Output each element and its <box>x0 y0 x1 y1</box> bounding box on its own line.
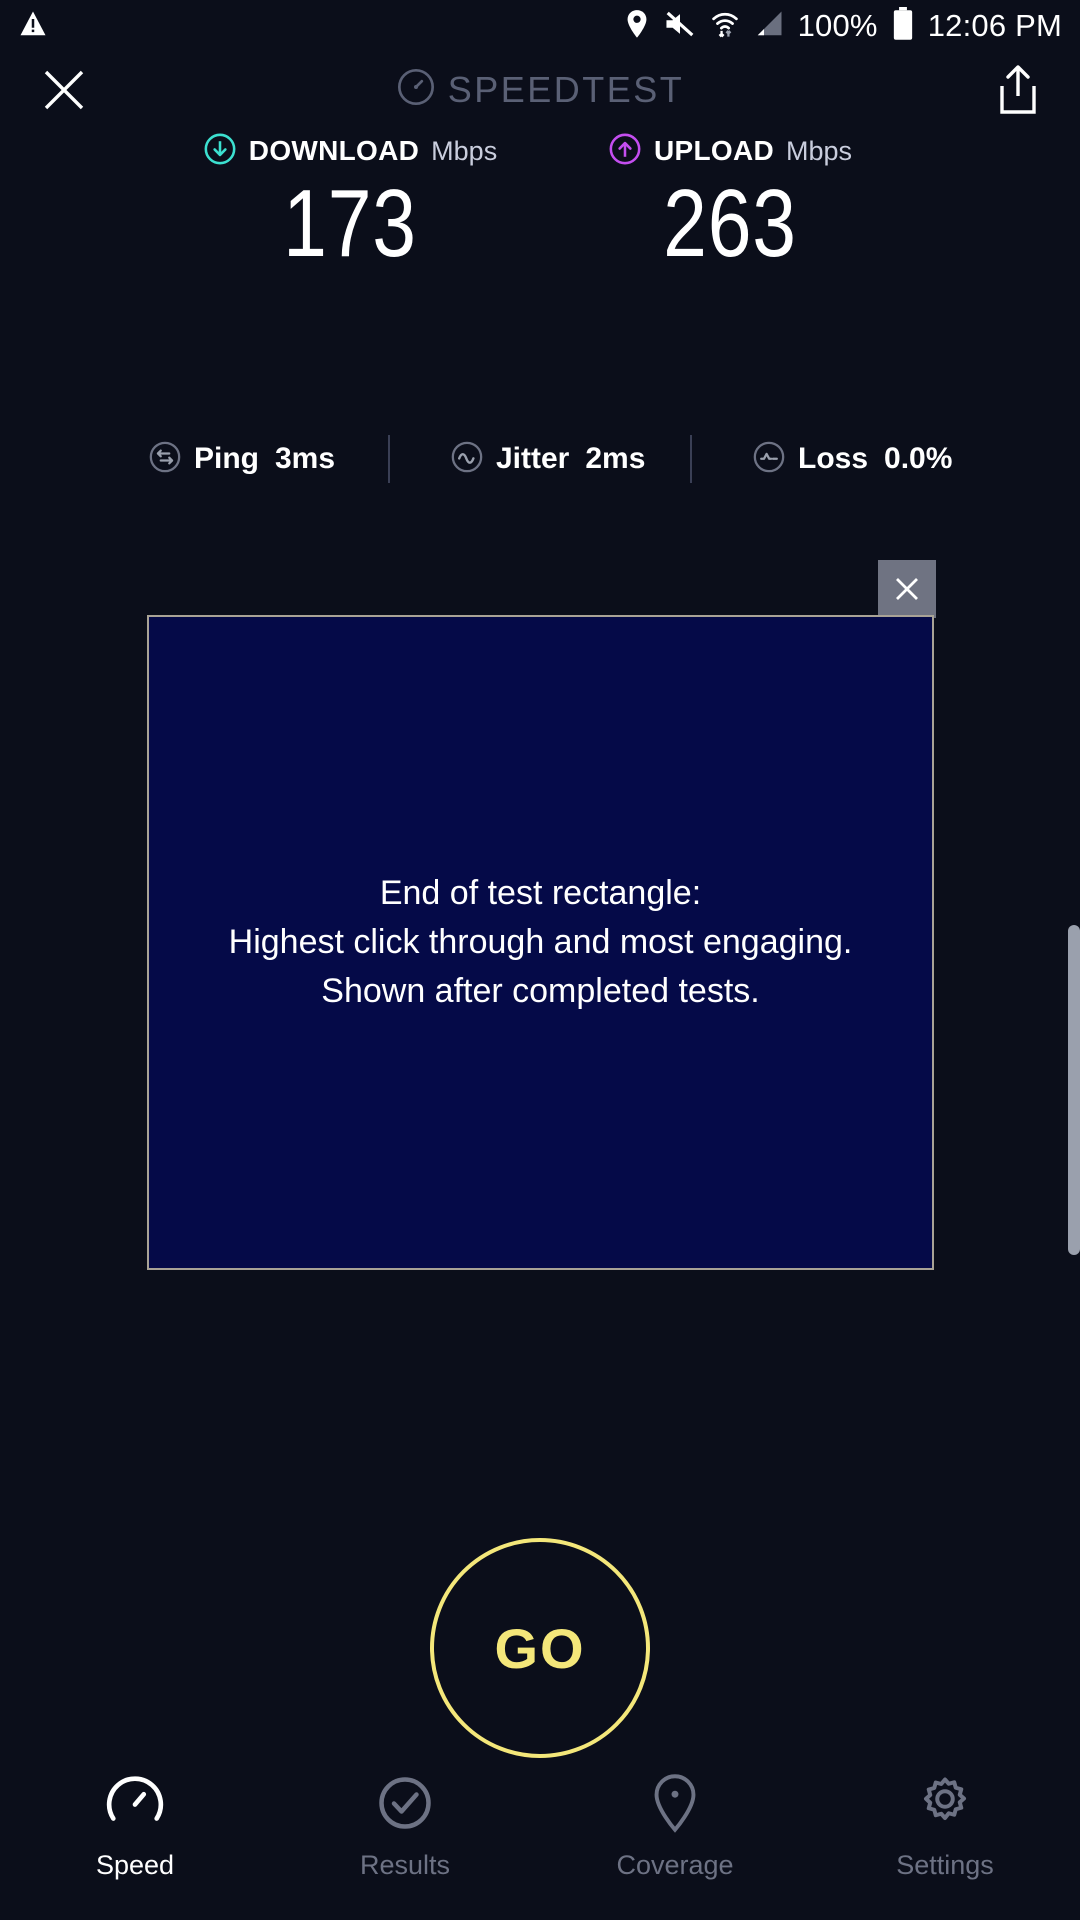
brand-title: SPEEDTEST <box>448 69 685 111</box>
loss-stat: Loss 0.0% <box>692 440 992 479</box>
stats-row: Ping 3ms Jitter 2ms Loss 0.0% <box>0 435 1080 483</box>
jitter-icon <box>450 440 484 479</box>
speedometer-icon <box>396 67 436 112</box>
loss-label: Loss <box>798 442 868 476</box>
battery-percent-label: 100% <box>798 8 878 44</box>
upload-unit: Mbps <box>786 136 852 167</box>
battery-full-icon <box>892 7 914 46</box>
status-bar-right: 100% 12:06 PM <box>624 7 1062 46</box>
download-metric: DOWNLOAD Mbps 173 <box>160 130 540 275</box>
close-button[interactable] <box>40 66 88 114</box>
ad-text: End of test rectangle: Highest click thr… <box>229 869 853 1017</box>
nav-label-settings: Settings <box>896 1850 994 1881</box>
results-panel: DOWNLOAD Mbps 173 UPLOAD Mbps 263 <box>0 130 1080 275</box>
ping-value: 3ms <box>275 442 335 476</box>
speedometer-icon <box>104 1772 166 1834</box>
download-arrow-icon <box>203 132 237 171</box>
upload-metric: UPLOAD Mbps 263 <box>540 130 920 275</box>
ad-line-3: Shown after completed tests. <box>229 967 853 1016</box>
scrollbar-thumb[interactable] <box>1068 925 1080 1255</box>
nav-item-settings[interactable]: Settings <box>810 1772 1080 1881</box>
ping-icon <box>148 440 182 479</box>
app-root: 100% 12:06 PM SPEEDTEST <box>0 0 1080 1920</box>
location-pin-icon <box>646 1772 704 1834</box>
download-unit: Mbps <box>431 136 497 167</box>
cellular-signal-icon <box>754 10 784 43</box>
status-bar: 100% 12:06 PM <box>0 0 1080 52</box>
download-upload-row: DOWNLOAD Mbps 173 UPLOAD Mbps 263 <box>0 130 1080 275</box>
nav-label-speed: Speed <box>96 1850 174 1881</box>
go-button-label: GO <box>494 1616 585 1681</box>
ad-line-1: End of test rectangle: <box>229 869 853 918</box>
upload-arrow-icon <box>608 132 642 171</box>
download-header: DOWNLOAD Mbps <box>160 130 540 172</box>
ping-stat: Ping 3ms <box>88 440 388 479</box>
upload-header: UPLOAD Mbps <box>540 130 920 172</box>
bottom-navigation: Speed Results Coverage Settings <box>0 1760 1080 1920</box>
nav-item-results[interactable]: Results <box>270 1772 540 1881</box>
ping-label: Ping <box>194 442 259 476</box>
share-button[interactable] <box>996 64 1040 116</box>
loss-icon <box>752 440 786 479</box>
loss-value: 0.0% <box>884 442 952 476</box>
download-value: 173 <box>194 174 506 275</box>
warning-triangle-icon <box>18 9 48 44</box>
nav-item-coverage[interactable]: Coverage <box>540 1772 810 1881</box>
upload-label: UPLOAD <box>654 135 774 167</box>
wifi-icon <box>710 8 740 45</box>
ad-line-2: Highest click through and most engaging. <box>229 918 853 967</box>
location-pin-icon <box>624 9 650 44</box>
status-bar-left <box>18 9 48 44</box>
ad-close-button[interactable] <box>878 560 936 618</box>
download-label: DOWNLOAD <box>249 135 419 167</box>
clock-label: 12:06 PM <box>928 8 1062 44</box>
nav-label-coverage: Coverage <box>616 1850 733 1881</box>
volume-muted-icon <box>664 9 696 44</box>
jitter-value: 2ms <box>585 442 645 476</box>
brand: SPEEDTEST <box>396 67 685 112</box>
app-header: SPEEDTEST <box>0 52 1080 127</box>
nav-item-speed[interactable]: Speed <box>0 1772 270 1881</box>
upload-value: 263 <box>574 174 886 275</box>
nav-label-results: Results <box>360 1850 450 1881</box>
ad-creative[interactable]: End of test rectangle: Highest click thr… <box>147 615 934 1270</box>
go-button[interactable]: GO <box>430 1538 650 1758</box>
gear-icon <box>915 1772 975 1834</box>
check-circle-icon <box>375 1772 435 1834</box>
jitter-label: Jitter <box>496 442 569 476</box>
jitter-stat: Jitter 2ms <box>390 440 690 479</box>
